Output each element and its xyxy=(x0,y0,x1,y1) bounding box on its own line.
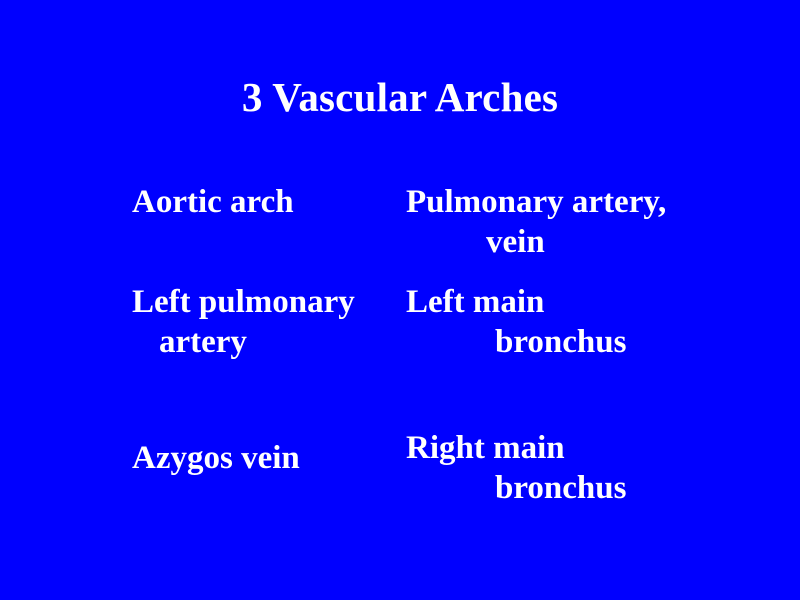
list-item-line-continued: bronchus xyxy=(406,468,626,508)
list-item-line: Left main xyxy=(406,282,626,322)
slide-title: 3 Vascular Arches xyxy=(0,74,800,120)
list-item-line: Aortic arch xyxy=(132,182,294,222)
list-item-line: Left pulmonary xyxy=(132,282,355,322)
list-item-line-continued: artery xyxy=(132,322,355,362)
list-item-right-main-bronchus: Right main bronchus xyxy=(406,428,626,508)
list-item-left-pulmonary-artery: Left pulmonary artery xyxy=(132,282,355,362)
list-item-line-continued: bronchus xyxy=(406,322,626,362)
list-item-line: Pulmonary artery, xyxy=(406,182,666,222)
list-item-line-continued: vein xyxy=(406,222,666,262)
list-item-left-main-bronchus: Left main bronchus xyxy=(406,282,626,362)
list-item-azygos-vein: Azygos vein xyxy=(132,438,300,478)
list-item-line: Azygos vein xyxy=(132,438,300,478)
list-item-aortic-arch: Aortic arch xyxy=(132,182,294,222)
list-item-line: Right main xyxy=(406,428,626,468)
presentation-slide: 3 Vascular Arches Aortic arch Left pulmo… xyxy=(0,0,800,600)
list-item-pulmonary-artery-vein: Pulmonary artery, vein xyxy=(406,182,666,262)
